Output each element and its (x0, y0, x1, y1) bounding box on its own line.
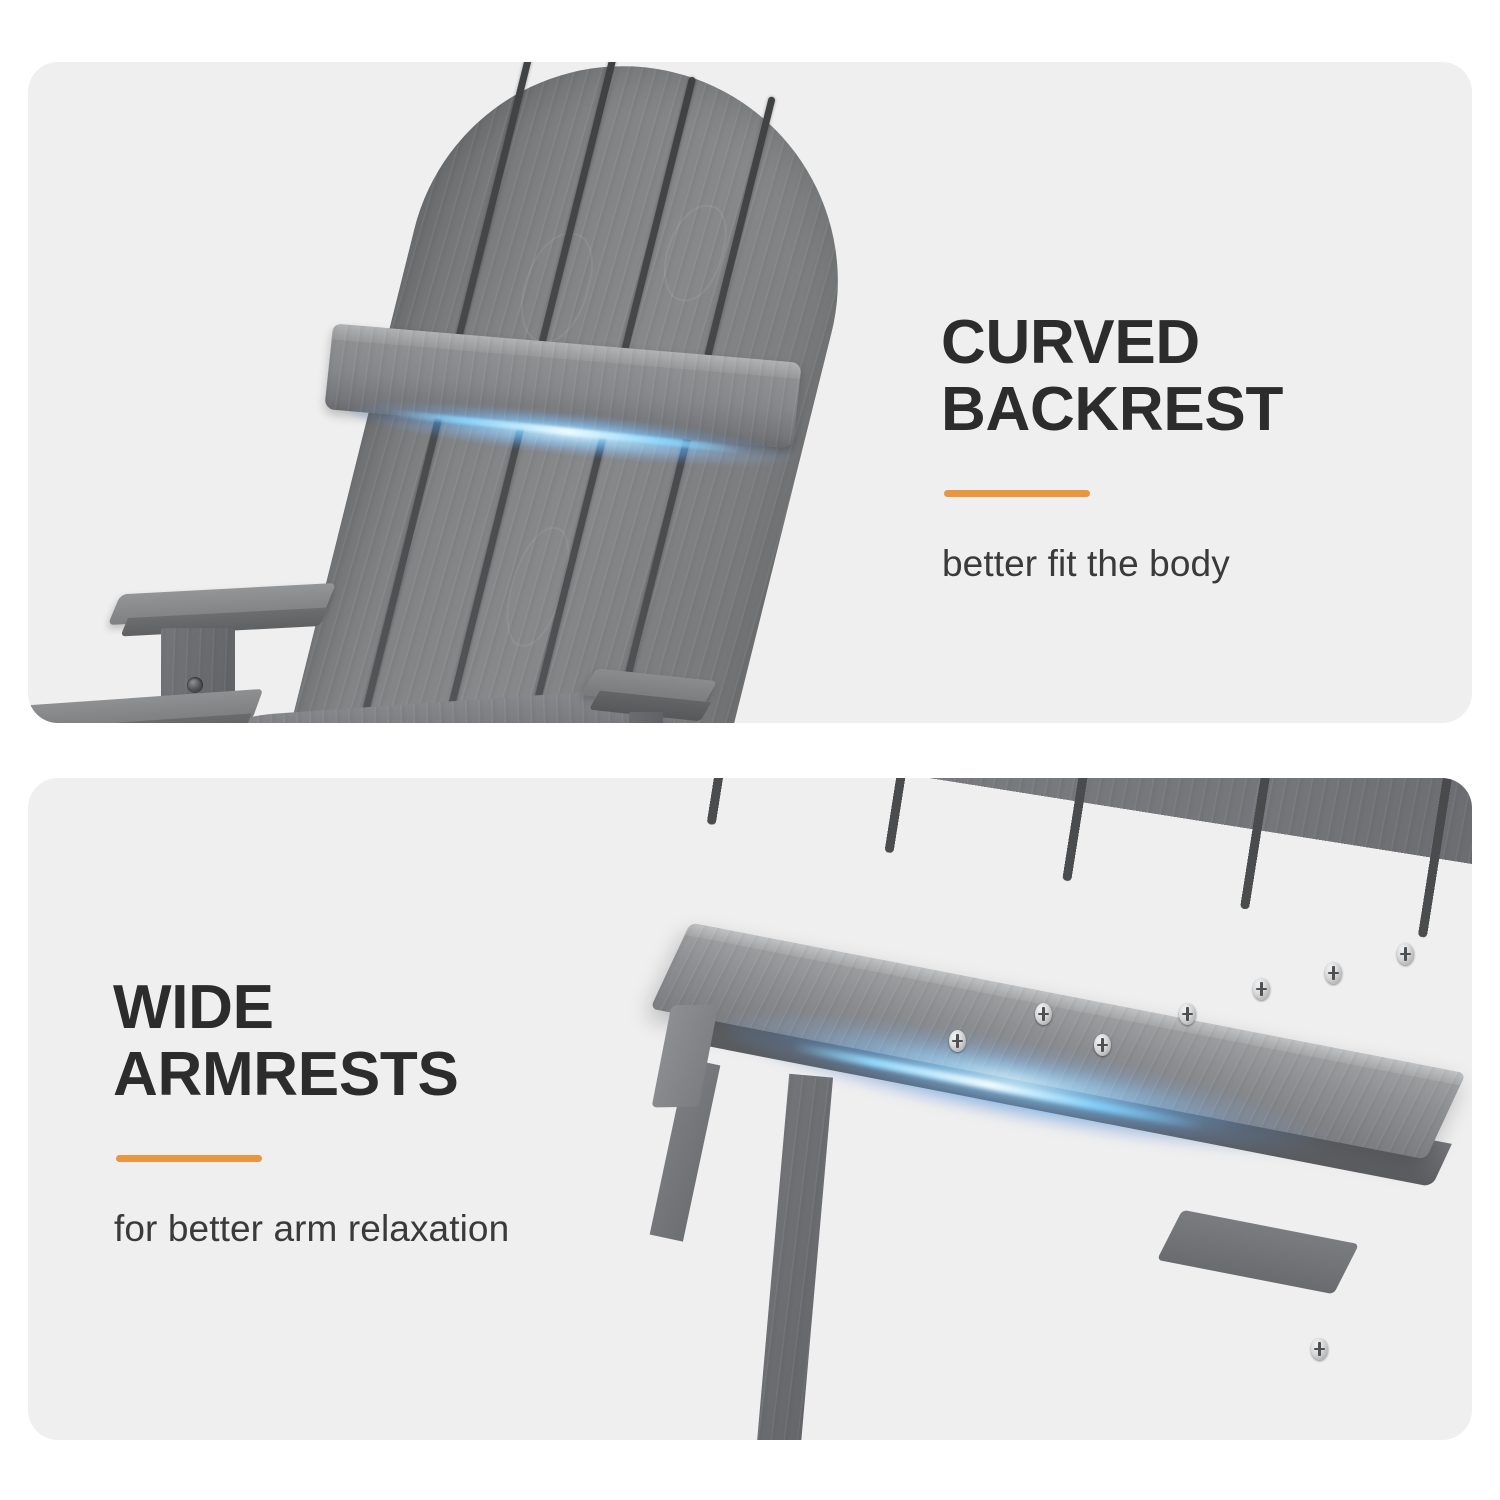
screw-fastener (1311, 1338, 1328, 1360)
backrest-slat-gap (1240, 778, 1421, 910)
wood-grain-texture (601, 778, 1472, 882)
screw-fastener (187, 677, 203, 693)
screw-fastener (1397, 943, 1414, 965)
panel-text-curved-backrest: CURVED BACKREST better fit the body (941, 310, 1283, 585)
panel-subhead: for better arm relaxation (114, 1208, 509, 1250)
panel-subhead: better fit the body (942, 543, 1283, 585)
armrest-right-support-post (629, 712, 663, 723)
backrest-slab (601, 778, 1472, 882)
chair-rear-view-illustration (28, 62, 928, 723)
backrest-slat-gap (1062, 778, 1243, 882)
feature-panel-wide-armrests: WIDE ARMRESTS for better arm relaxation (28, 778, 1472, 1440)
post-grain-texture (757, 1074, 833, 1440)
panel-heading: CURVED BACKREST (941, 310, 1283, 444)
accent-rule (944, 490, 1090, 497)
armrest-support-post (757, 1074, 833, 1440)
panel-text-wide-armrests: WIDE ARMRESTS for better arm relaxation (113, 975, 509, 1250)
accent-rule (116, 1155, 262, 1162)
backrest-slat-gap (1418, 778, 1472, 938)
screw-fastener (1094, 1034, 1111, 1056)
screw-fastener (1325, 962, 1342, 984)
backrest-slat-gap (707, 778, 888, 825)
backrest-slat-gap (884, 778, 1065, 853)
armrest-mounting-bracket (1157, 1210, 1359, 1294)
screw-fastener (1179, 1003, 1196, 1025)
panel-heading: WIDE ARMRESTS (113, 975, 509, 1109)
screw-fastener (949, 1030, 966, 1052)
screw-fastener (1035, 1003, 1052, 1025)
feature-panel-curved-backrest: CURVED BACKREST better fit the body (28, 62, 1472, 723)
screw-fastener (1253, 978, 1270, 1000)
